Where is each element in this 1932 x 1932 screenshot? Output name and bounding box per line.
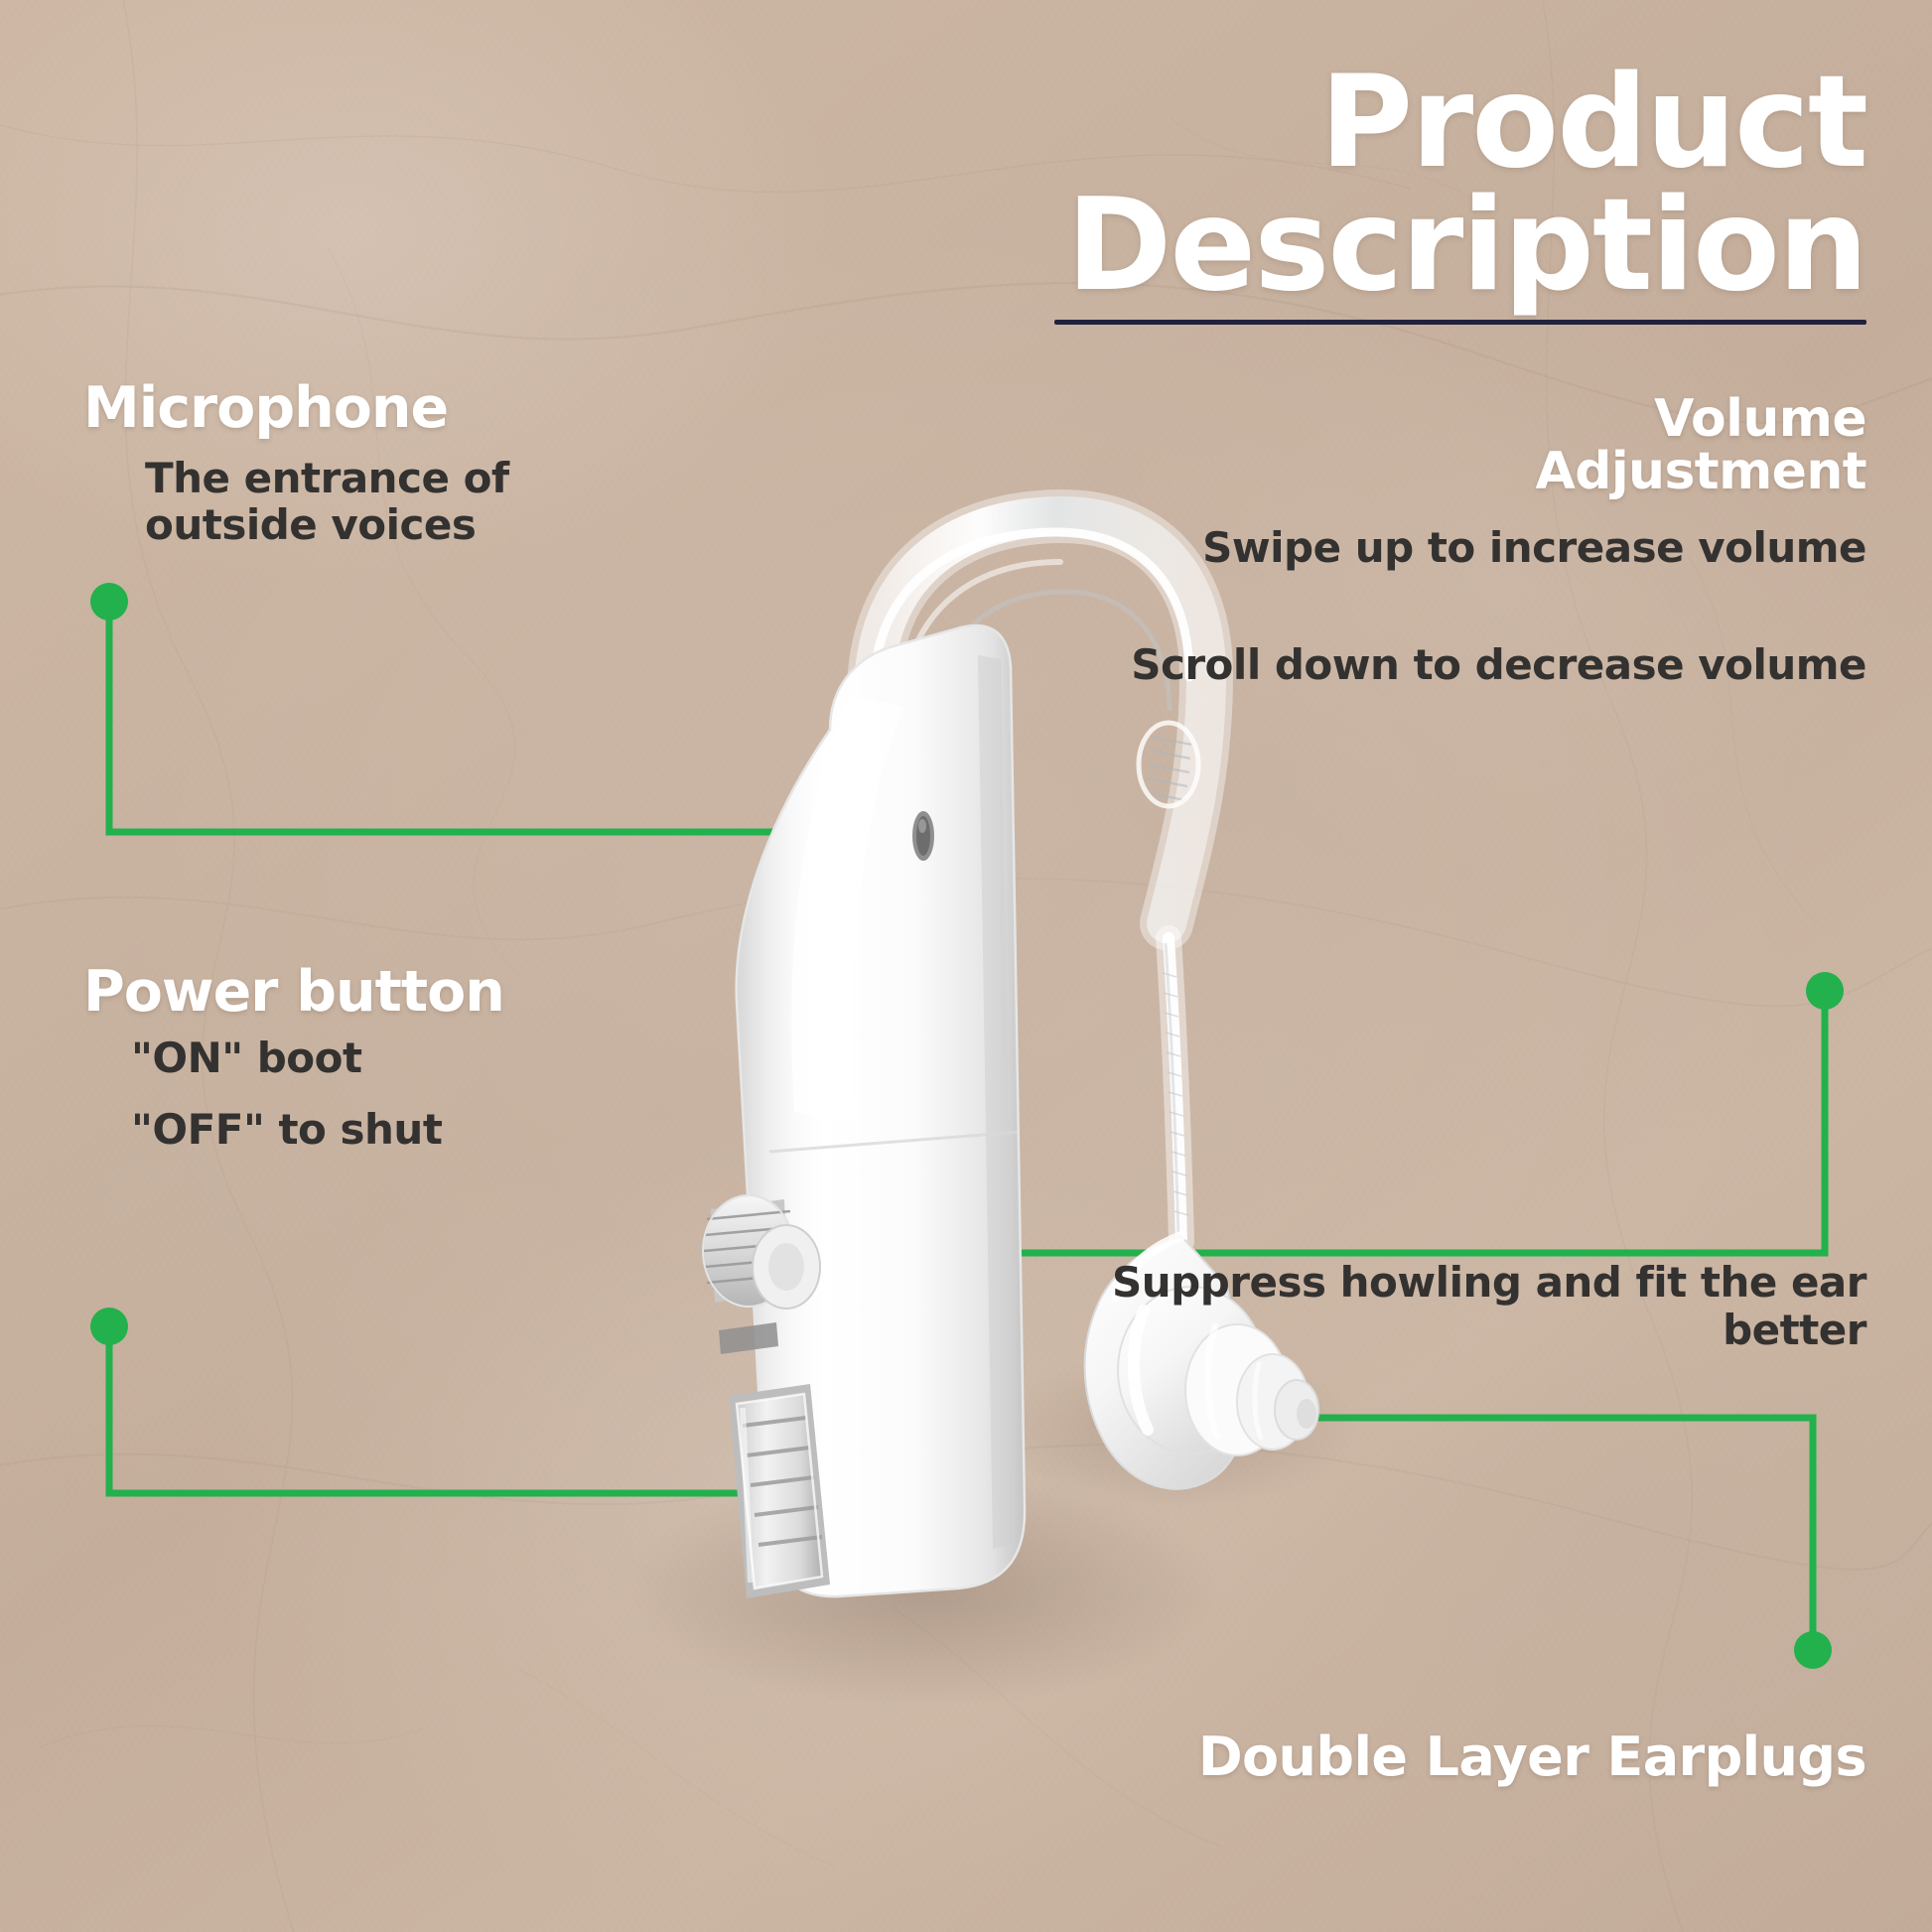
callout-heading-earplugs: Double Layer Earplugs bbox=[874, 1725, 1866, 1788]
callout-text-earplugs: Suppress howling and fit the ear better bbox=[1112, 1259, 1866, 1354]
volume-heading-line-1: Volume bbox=[1654, 389, 1866, 449]
callout-text-microphone: The entrance of outside voices bbox=[145, 455, 562, 548]
callout-text-power-on: "ON" boot bbox=[131, 1035, 548, 1081]
callout-heading-volume-adjustment: Volume Adjustment bbox=[1112, 393, 1866, 498]
sound-tube bbox=[1163, 938, 1188, 1241]
callout-text-volume-increase: Swipe up to increase volume bbox=[1112, 524, 1866, 572]
microphone-port-icon bbox=[912, 811, 934, 861]
infographic-canvas: Product Description bbox=[0, 0, 1932, 1932]
callout-text-volume-decrease: Scroll down to decrease volume bbox=[1112, 641, 1866, 689]
callout-heading-power-button: Power button bbox=[83, 959, 504, 1025]
callout-heading-microphone: Microphone bbox=[83, 375, 448, 441]
callout-text-power-off: "OFF" to shut bbox=[131, 1106, 548, 1153]
volume-heading-line-2: Adjustment bbox=[1536, 442, 1866, 501]
